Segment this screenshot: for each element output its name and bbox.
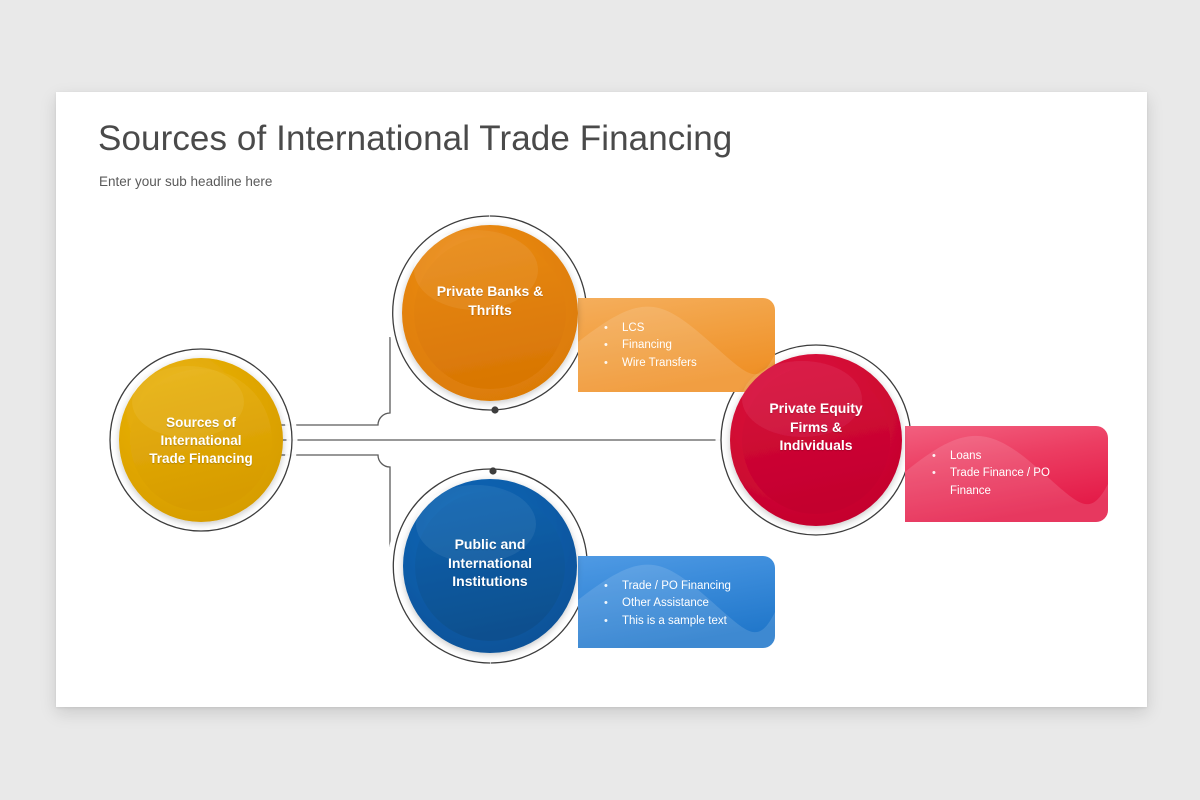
panel-private-banks <box>578 298 775 392</box>
panel-public-international <box>578 556 775 648</box>
node-private-banks[interactable] <box>402 225 578 401</box>
node-private-equity[interactable] <box>730 354 902 526</box>
panel-private-equity <box>905 426 1108 522</box>
connector-endpoint-dot <box>489 467 496 474</box>
diagram-graphics <box>56 92 1147 707</box>
node-center[interactable] <box>119 358 283 522</box>
slide-canvas: Sources of International Trade Financing… <box>56 92 1147 707</box>
slide-stage: Sources of International Trade Financing… <box>0 0 1200 800</box>
connector-endpoint-dot <box>491 406 498 413</box>
node-public-international[interactable] <box>403 479 577 653</box>
